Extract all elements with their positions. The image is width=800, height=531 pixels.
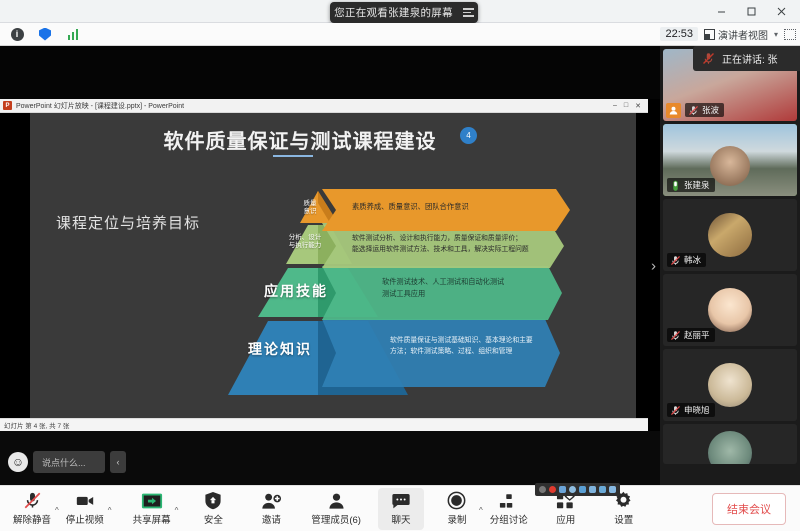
powerpoint-title: PowerPoint 幻灯片放映 - [课程建设.pptx] - PowerPo… (16, 101, 184, 111)
float-emoji-icon[interactable] (599, 486, 606, 493)
camera-icon (75, 491, 95, 510)
control-label: 邀请 (262, 512, 281, 526)
float-cursor-icon[interactable] (539, 486, 546, 493)
ppt-close-button[interactable]: ✕ (635, 102, 641, 110)
ppt-restore-button[interactable]: □ (624, 102, 628, 110)
close-button[interactable] (766, 0, 796, 23)
participants-icon (327, 491, 346, 510)
screen-share-banner[interactable]: 您正在观看张建泉的屏幕 (330, 2, 478, 23)
control-label: 停止视频 (66, 512, 104, 526)
participant-tile[interactable]: 申晓旭 (663, 349, 797, 421)
control-label: 应用 (556, 512, 575, 526)
maximize-button[interactable] (736, 0, 766, 23)
participant-name: 赵丽平 (684, 329, 710, 341)
float-more-icon[interactable] (609, 486, 616, 493)
powerpoint-window-buttons: – □ ✕ (613, 102, 645, 110)
chat-icon (391, 491, 411, 510)
shield-icon[interactable] (34, 23, 56, 45)
float-keyboard-icon[interactable] (559, 486, 566, 493)
status-toolbar: i 22:53 演讲者视图 ▾ (0, 23, 800, 46)
control-stop-video[interactable]: 停止视频 (61, 488, 109, 530)
share-banner-text: 您正在观看张建泉的屏幕 (334, 5, 453, 20)
presenter-icon (704, 29, 715, 40)
face-overlay (710, 146, 750, 186)
security-icon (204, 491, 222, 510)
avatar (708, 363, 752, 407)
control-invite[interactable]: 邀请 (248, 488, 294, 530)
shared-screen-area[interactable]: P PowerPoint 幻灯片放映 - [课程建设.pptx] - Power… (0, 46, 660, 485)
signal-bars-icon[interactable] (62, 23, 84, 45)
participant-tile[interactable]: 张建泉 (663, 124, 797, 196)
control-label: 分组讨论 (490, 512, 528, 526)
shared-letterbox-top (0, 46, 660, 99)
avatar (708, 213, 752, 257)
participant-name-chip: 张建泉 (667, 178, 715, 192)
control-label: 共享屏幕 (133, 512, 171, 526)
float-panel-icon[interactable] (589, 486, 596, 493)
invite-icon (261, 491, 282, 510)
pyramid-side-label-1: 质量意识 (293, 199, 327, 215)
control-unmute[interactable]: 解除静音 (8, 488, 56, 530)
participant-tile[interactable]: 赵丽平 (663, 274, 797, 346)
participant-rail[interactable]: 张波 张建泉 韩冰 (660, 46, 800, 485)
control-chat[interactable]: 聊天 (378, 488, 424, 530)
participant-name: 张建泉 (684, 179, 710, 191)
participant-name-chip: 赵丽平 (667, 328, 715, 342)
speaking-mic-icon (702, 52, 715, 65)
chat-input[interactable]: 说点什么... (33, 451, 105, 473)
expand-icon[interactable] (784, 29, 796, 40)
pyramid-big-label-3: 应用技能 (264, 281, 328, 301)
toolbar-right-group: 22:53 演讲者视图 ▾ (660, 27, 800, 42)
record-icon (447, 491, 466, 510)
pyramid-band-text-1: 素质养成、质量意识、团队合作意识 (352, 202, 552, 213)
hamburger-icon[interactable] (463, 8, 474, 17)
clock: 22:53 (660, 27, 698, 41)
next-page-arrow[interactable]: › (651, 257, 656, 274)
speaking-indicator-text: 正在讲话: 张 (722, 51, 778, 66)
powerpoint-icon: P (3, 101, 12, 110)
mic-muted-icon (670, 330, 681, 341)
powerpoint-status-bar: 幻灯片 第 4 张, 共 7 张 (0, 418, 648, 431)
breakout-icon (499, 491, 519, 510)
control-label: 解除静音 (13, 512, 51, 526)
powerpoint-titlebar: P PowerPoint 幻灯片放映 - [课程建设.pptx] - Power… (0, 99, 648, 113)
pyramid-diagram (0, 113, 648, 418)
participant-tile[interactable]: 韩冰 (663, 199, 797, 271)
powerpoint-float-toolbar[interactable] (535, 483, 620, 496)
participant-name-chip: 张波 (685, 103, 724, 117)
speaking-indicator: 正在讲话: 张 (693, 46, 800, 71)
pyramid-side-label-2: 分析、设计与执行能力 (278, 233, 332, 249)
mic-muted-icon (670, 405, 681, 416)
control-label: 安全 (204, 512, 223, 526)
float-sogou-icon[interactable] (549, 486, 556, 493)
control-label: 聊天 (391, 512, 410, 526)
pyramid-big-label-4: 理论知识 (248, 339, 312, 359)
control-manage-participants[interactable]: 管理成员(6) (306, 488, 366, 530)
mic-muted-icon (23, 491, 42, 510)
pyramid-band-text-2: 软件测试分析、设计和执行能力，质量保证和质量评价； 能选择运用软件测试方法、技术… (352, 233, 557, 254)
float-tool-icon[interactable] (579, 486, 586, 493)
control-label: 管理成员(6) (311, 512, 361, 526)
participant-name: 张波 (702, 104, 719, 116)
pyramid-band-text-3: 软件测试技术、人工测试和自动化测试 测试工具应用 (382, 276, 562, 299)
ppt-minimize-button[interactable]: – (613, 102, 617, 110)
mic-muted-icon (688, 105, 699, 116)
control-breakout-rooms[interactable]: 分组讨论 (485, 488, 533, 530)
control-record[interactable]: 录制 (434, 488, 480, 530)
control-label: 录制 (447, 512, 466, 526)
presenter-view-label: 演讲者视图 (718, 27, 768, 42)
control-label: 设置 (614, 512, 633, 526)
host-badge (666, 103, 681, 118)
chevron-down-icon[interactable]: ▾ (774, 30, 778, 39)
chat-collapse-button[interactable]: ‹ (110, 451, 126, 473)
end-meeting-button[interactable]: 结束会议 (712, 493, 786, 525)
emoji-icon[interactable]: ☺ (8, 452, 28, 472)
control-share-screen[interactable]: 共享屏幕 (128, 488, 176, 530)
participant-name: 韩冰 (684, 254, 701, 266)
participant-name-chip: 申晓旭 (667, 403, 715, 417)
mic-active-icon (670, 180, 681, 191)
slide-count-status: 幻灯片 第 4 张, 共 7 张 (0, 420, 69, 430)
avatar (708, 288, 752, 332)
share-screen-icon (141, 491, 163, 510)
pyramid-band-text-4: 软件质量保证与测试基础知识、基本理论和主要 方法；软件测试策略、过程、组织和管理 (390, 335, 570, 357)
minimize-button[interactable] (706, 0, 736, 23)
participant-name-chip: 韩冰 (667, 253, 706, 267)
meeting-control-bar: 解除静音 ^ 停止视频 ^ 共享屏幕 ^ (0, 485, 800, 531)
window-buttons (706, 0, 796, 23)
participant-tile[interactable] (663, 424, 797, 464)
presenter-view-chip[interactable]: 演讲者视图 (704, 27, 768, 42)
info-icon[interactable]: i (6, 23, 28, 45)
mic-muted-icon (670, 255, 681, 266)
participant-name: 申晓旭 (684, 404, 710, 416)
float-settings-icon[interactable] (569, 486, 576, 493)
slide-canvas[interactable]: 软件质量保证与测试课程建设 4 课程定位与培养目标 质量意识 (0, 113, 648, 418)
meeting-chat-strip[interactable]: ☺ 说点什么... ‹ (8, 449, 126, 475)
control-security[interactable]: 安全 (190, 488, 236, 530)
